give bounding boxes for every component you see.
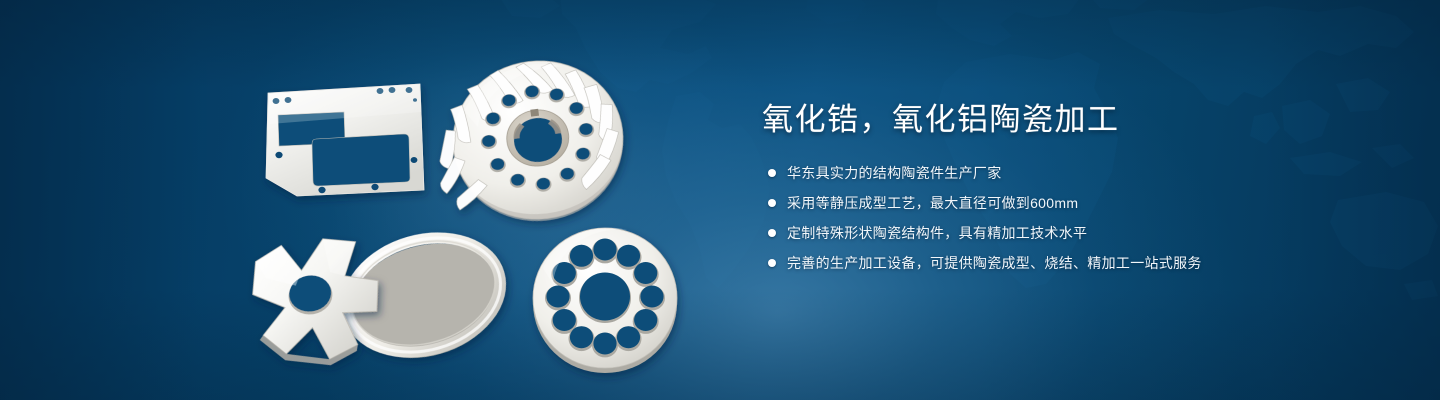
banner-copy: 氧化锆，氧化铝陶瓷加工 华东具实力的结构陶瓷件生产厂家 采用等静压成型工艺，最大…	[762, 100, 1382, 282]
list-item: 定制特殊形状陶瓷结构件，具有精加工技术水平	[762, 222, 1382, 244]
bullet-dot-icon	[768, 199, 776, 207]
page-title: 氧化锆，氧化铝陶瓷加工	[762, 100, 1382, 140]
ceramic-cross-part	[246, 231, 390, 375]
list-item-label: 采用等静压成型工艺，最大直径可做到600mm	[787, 192, 1078, 214]
ceramic-impeller-disc	[427, 51, 632, 233]
bullet-dot-icon	[768, 229, 776, 237]
hero-banner: 氧化锆，氧化铝陶瓷加工 华东具实力的结构陶瓷件生产厂家 采用等静压成型工艺，最大…	[0, 0, 1440, 400]
bullet-dot-icon	[768, 259, 776, 267]
ceramic-perforated-disc	[533, 228, 677, 373]
list-item-label: 定制特殊形状陶瓷结构件，具有精加工技术水平	[787, 222, 1087, 244]
list-item: 华东具实力的结构陶瓷件生产厂家	[762, 162, 1382, 184]
list-item-label: 华东具实力的结构陶瓷件生产厂家	[787, 162, 1002, 184]
list-item: 完善的生产加工设备，可提供陶瓷成型、烧结、精加工一站式服务	[762, 252, 1382, 274]
bullet-dot-icon	[768, 169, 776, 177]
list-item: 采用等静压成型工艺，最大直径可做到600mm	[762, 192, 1382, 214]
product-image-group	[0, 0, 740, 400]
feature-list: 华东具实力的结构陶瓷件生产厂家 采用等静压成型工艺，最大直径可做到600mm 定…	[762, 162, 1382, 274]
ceramic-machined-plate	[266, 84, 424, 196]
list-item-label: 完善的生产加工设备，可提供陶瓷成型、烧结、精加工一站式服务	[787, 252, 1202, 274]
